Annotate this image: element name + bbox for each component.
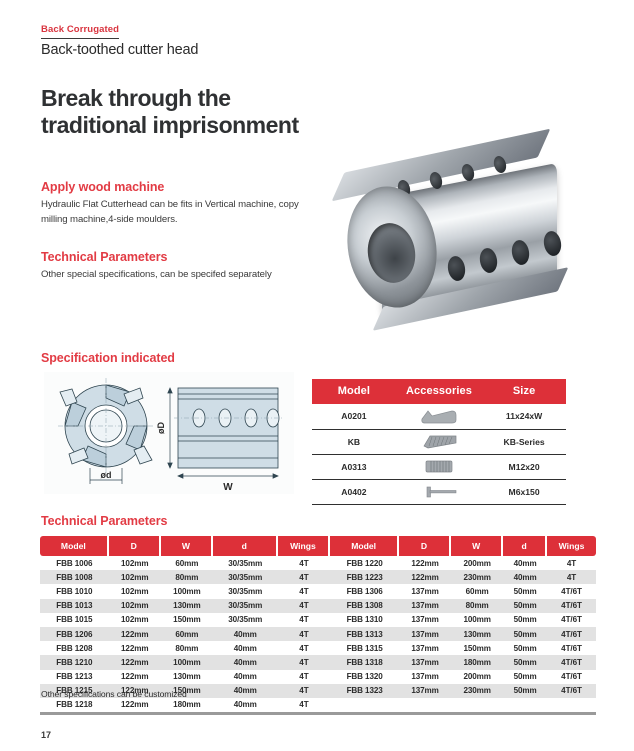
accessories-table-head: Model Accessories Size <box>312 379 566 404</box>
table-cell: 30/35mm <box>213 556 278 570</box>
diagram-label-w: W <box>223 482 233 493</box>
accessories-col-size: Size <box>482 379 566 404</box>
technical-table-head: Model D W d Wings Model D W d Wings <box>40 536 596 556</box>
table-cell: 4T/6T <box>547 641 596 655</box>
table-cell: 180mm <box>451 655 503 669</box>
table-cell: 50mm <box>503 627 547 641</box>
table-cell: 50mm <box>503 599 547 613</box>
table-cell: 40mm <box>503 570 547 584</box>
table-cell: 230mm <box>451 684 503 698</box>
table-cell: 4T/6T <box>547 627 596 641</box>
technical-header-row: Model D W d Wings Model D W d Wings <box>40 536 596 556</box>
page-number: 17 <box>41 730 51 740</box>
specification-heading: Specification indicated <box>41 351 175 365</box>
accessories-size: M6x150 <box>482 479 566 504</box>
accessories-model: A0201 <box>312 404 396 429</box>
table-cell: 137mm <box>399 655 451 669</box>
table-row: KB KB-Series <box>312 429 566 454</box>
knife-blade-icon <box>396 404 482 429</box>
table-cell: 102mm <box>109 599 161 613</box>
table-cell: 50mm <box>503 613 547 627</box>
tech-col-wings-left: Wings <box>278 536 331 556</box>
table-row: FBB 1015102mm150mm30/35mm4TFBB 1310137mm… <box>40 613 596 627</box>
tech-col-model-right: Model <box>330 536 399 556</box>
table-cell: 102mm <box>109 570 161 584</box>
tech-col-smalld-right: d <box>503 536 547 556</box>
table-row: FBB 1218122mm180mm40mm4T <box>40 698 596 715</box>
table-cell: FBB 1206 <box>40 627 109 641</box>
table-cell: 4T <box>278 627 331 641</box>
table-cell: FBB 1218 <box>40 698 109 715</box>
table-cell: FBB 1213 <box>40 670 109 684</box>
table-cell: 4T <box>278 584 331 598</box>
table-cell: FBB 1313 <box>330 627 399 641</box>
tech-col-wings-right: Wings <box>547 536 596 556</box>
table-cell: FBB 1010 <box>40 584 109 598</box>
table-cell: 4T <box>278 641 331 655</box>
cad-drawing-svg: ød <box>44 372 294 494</box>
table-row: FBB 1008102mm80mm30/35mm4TFBB 1223122mm2… <box>40 570 596 584</box>
table-cell: 50mm <box>503 655 547 669</box>
table-cell: FBB 1320 <box>330 670 399 684</box>
table-row: A0201 11x24xW <box>312 404 566 429</box>
accessories-table-body: A0201 11x24xW KB KB-Series A0313 M12x20 <box>312 404 566 504</box>
table-cell: 50mm <box>503 684 547 698</box>
table-cell: FBB 1210 <box>40 655 109 669</box>
table-cell: FBB 1318 <box>330 655 399 669</box>
table-cell: 30/35mm <box>213 584 278 598</box>
table-cell: FBB 1315 <box>330 641 399 655</box>
table-cell: 30/35mm <box>213 613 278 627</box>
table-cell: 4T/6T <box>547 584 596 598</box>
table-cell: 102mm <box>109 556 161 570</box>
accessories-model: KB <box>312 429 396 454</box>
tech-col-smalld-left: d <box>213 536 278 556</box>
table-cell: 100mm <box>451 613 503 627</box>
customization-note: Other specifications can be customized <box>41 689 187 699</box>
apply-section-heading: Apply wood machine <box>41 180 164 194</box>
table-cell: 130mm <box>451 627 503 641</box>
category-eyebrow: Back Corrugated <box>41 24 119 39</box>
table-cell: 40mm <box>213 684 278 698</box>
table-cell: 80mm <box>161 641 213 655</box>
table-cell: 200mm <box>451 556 503 570</box>
table-cell: 4T/6T <box>547 684 596 698</box>
table-cell: 40mm <box>213 641 278 655</box>
accessories-size: KB-Series <box>482 429 566 454</box>
serrated-plate-icon <box>396 429 482 454</box>
table-cell: 30/35mm <box>213 599 278 613</box>
table-cell: 137mm <box>399 641 451 655</box>
table-cell: 137mm <box>399 613 451 627</box>
accessories-size: 11x24xW <box>482 404 566 429</box>
product-photo-cutter-head <box>330 128 622 340</box>
table-row: FBB 1006102mm60mm30/35mm4TFBB 1220122mm2… <box>40 556 596 570</box>
table-cell: 4T <box>278 556 331 570</box>
table-cell: 150mm <box>161 613 213 627</box>
accessories-col-model: Model <box>312 379 396 404</box>
technical-table-heading: Technical Parameters <box>41 514 167 528</box>
table-cell: 4T/6T <box>547 670 596 684</box>
product-subtitle: Back-toothed cutter head <box>41 42 198 58</box>
table-cell: 122mm <box>109 670 161 684</box>
table-cell: 230mm <box>451 570 503 584</box>
table-cell: 122mm <box>399 570 451 584</box>
specification-diagram: ød <box>44 372 294 494</box>
catalog-page: Back Corrugated Back-toothed cutter head… <box>0 0 634 751</box>
tech-col-d-right: D <box>399 536 451 556</box>
table-cell: 4T <box>547 556 596 570</box>
table-cell: FBB 1223 <box>330 570 399 584</box>
table-cell: 4T <box>278 599 331 613</box>
table-cell: 200mm <box>451 670 503 684</box>
tech-col-model-left: Model <box>40 536 109 556</box>
table-cell: 137mm <box>399 684 451 698</box>
tech-col-d-left: D <box>109 536 161 556</box>
table-cell: 40mm <box>213 627 278 641</box>
table-cell <box>503 698 547 715</box>
table-cell: 80mm <box>161 570 213 584</box>
table-cell: 40mm <box>503 556 547 570</box>
table-cell: 4T/6T <box>547 655 596 669</box>
table-cell: 30/35mm <box>213 570 278 584</box>
table-cell: FBB 1006 <box>40 556 109 570</box>
table-row: FBB 1010102mm100mm30/35mm4TFBB 1306137mm… <box>40 584 596 598</box>
table-cell: 130mm <box>161 670 213 684</box>
table-cell: 122mm <box>109 641 161 655</box>
table-cell: 50mm <box>503 641 547 655</box>
table-cell: 102mm <box>109 613 161 627</box>
accessories-size: M12x20 <box>482 454 566 479</box>
table-cell: 122mm <box>399 556 451 570</box>
table-cell: 60mm <box>161 556 213 570</box>
diagram-label-large-d: øD <box>156 422 166 434</box>
table-cell: 137mm <box>399 627 451 641</box>
table-cell: 180mm <box>161 698 213 715</box>
table-cell: FBB 1208 <box>40 641 109 655</box>
accessories-col-accessories: Accessories <box>396 379 482 404</box>
table-cell: FBB 1013 <box>40 599 109 613</box>
accessories-header-row: Model Accessories Size <box>312 379 566 404</box>
table-cell: 4T <box>278 613 331 627</box>
table-cell: 60mm <box>451 584 503 598</box>
table-cell: FBB 1323 <box>330 684 399 698</box>
table-cell: 102mm <box>109 584 161 598</box>
table-cell: FBB 1220 <box>330 556 399 570</box>
table-cell: 4T <box>278 684 331 698</box>
table-cell: 137mm <box>399 670 451 684</box>
table-cell: 50mm <box>503 670 547 684</box>
table-cell: FBB 1310 <box>330 613 399 627</box>
table-cell: 60mm <box>161 627 213 641</box>
table-cell: 40mm <box>213 698 278 715</box>
table-cell: 50mm <box>503 584 547 598</box>
table-cell: 40mm <box>213 655 278 669</box>
technical-intro-heading: Technical Parameters <box>41 250 167 264</box>
accessories-model: A0402 <box>312 479 396 504</box>
page-headline: Break through the traditional imprisonme… <box>41 85 341 139</box>
accessories-table: Model Accessories Size A0201 11x24xW KB … <box>312 379 566 505</box>
table-row: FBB 1206122mm60mm40mm4TFBB 1313137mm130m… <box>40 627 596 641</box>
table-cell: 130mm <box>161 599 213 613</box>
table-row: A0402 M6x150 <box>312 479 566 504</box>
table-cell: 122mm <box>109 655 161 669</box>
table-cell <box>330 698 399 715</box>
apply-section-body: Hydraulic Flat Cutterhead can be fits in… <box>41 198 316 227</box>
table-cell: 4T <box>278 570 331 584</box>
table-cell: 4T/6T <box>547 613 596 627</box>
table-cell: 137mm <box>399 584 451 598</box>
table-cell: 40mm <box>213 670 278 684</box>
table-cell <box>547 698 596 715</box>
table-cell: 150mm <box>451 641 503 655</box>
table-cell: FBB 1008 <box>40 570 109 584</box>
technical-intro-body: Other special specifications, can be spe… <box>41 268 321 283</box>
table-cell <box>451 698 503 715</box>
table-cell: 100mm <box>161 584 213 598</box>
table-cell: 80mm <box>451 599 503 613</box>
diagram-label-small-d: ød <box>101 470 112 480</box>
table-row: FBB 1013102mm130mm30/35mm4TFBB 1308137mm… <box>40 599 596 613</box>
table-row: FBB 1210122mm100mm40mm4TFBB 1318137mm180… <box>40 655 596 669</box>
table-cell: 122mm <box>109 627 161 641</box>
table-cell: FBB 1308 <box>330 599 399 613</box>
table-cell: FBB 1015 <box>40 613 109 627</box>
tech-col-w-right: W <box>451 536 503 556</box>
flat-head-screw-icon <box>396 479 482 504</box>
table-cell: 4T/6T <box>547 599 596 613</box>
table-cell: FBB 1306 <box>330 584 399 598</box>
tech-col-w-left: W <box>161 536 213 556</box>
table-cell: 100mm <box>161 655 213 669</box>
table-cell: 4T <box>278 698 331 715</box>
table-row: FBB 1213122mm130mm40mm4TFBB 1320137mm200… <box>40 670 596 684</box>
table-cell: 4T <box>278 670 331 684</box>
table-cell: 137mm <box>399 599 451 613</box>
table-cell <box>399 698 451 715</box>
table-cell: 122mm <box>109 698 161 715</box>
threaded-insert-icon <box>396 454 482 479</box>
table-row: A0313 M12x20 <box>312 454 566 479</box>
table-row: FBB 1208122mm80mm40mm4TFBB 1315137mm150m… <box>40 641 596 655</box>
table-cell: 4T <box>547 570 596 584</box>
table-cell: 4T <box>278 655 331 669</box>
accessories-model: A0313 <box>312 454 396 479</box>
